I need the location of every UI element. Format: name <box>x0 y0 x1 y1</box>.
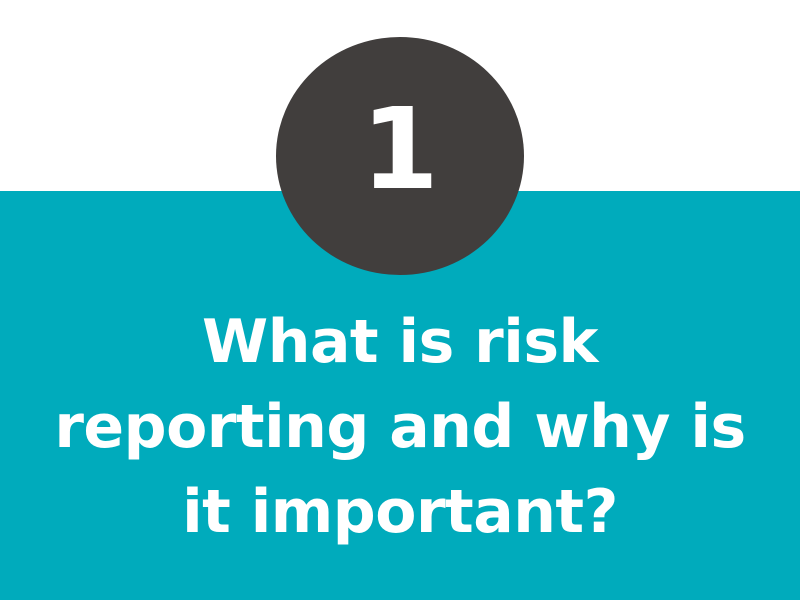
page-title-line-2: reporting and why is <box>0 385 800 470</box>
page-title: What is risk reporting and why is it imp… <box>0 300 800 555</box>
section-number-label: 1 <box>361 94 439 206</box>
slide-canvas: 1 What is risk reporting and why is it i… <box>0 0 800 600</box>
section-number-badge: 1 <box>276 37 524 275</box>
page-title-line-3: it important? <box>0 470 800 555</box>
page-title-line-1: What is risk <box>0 300 800 385</box>
